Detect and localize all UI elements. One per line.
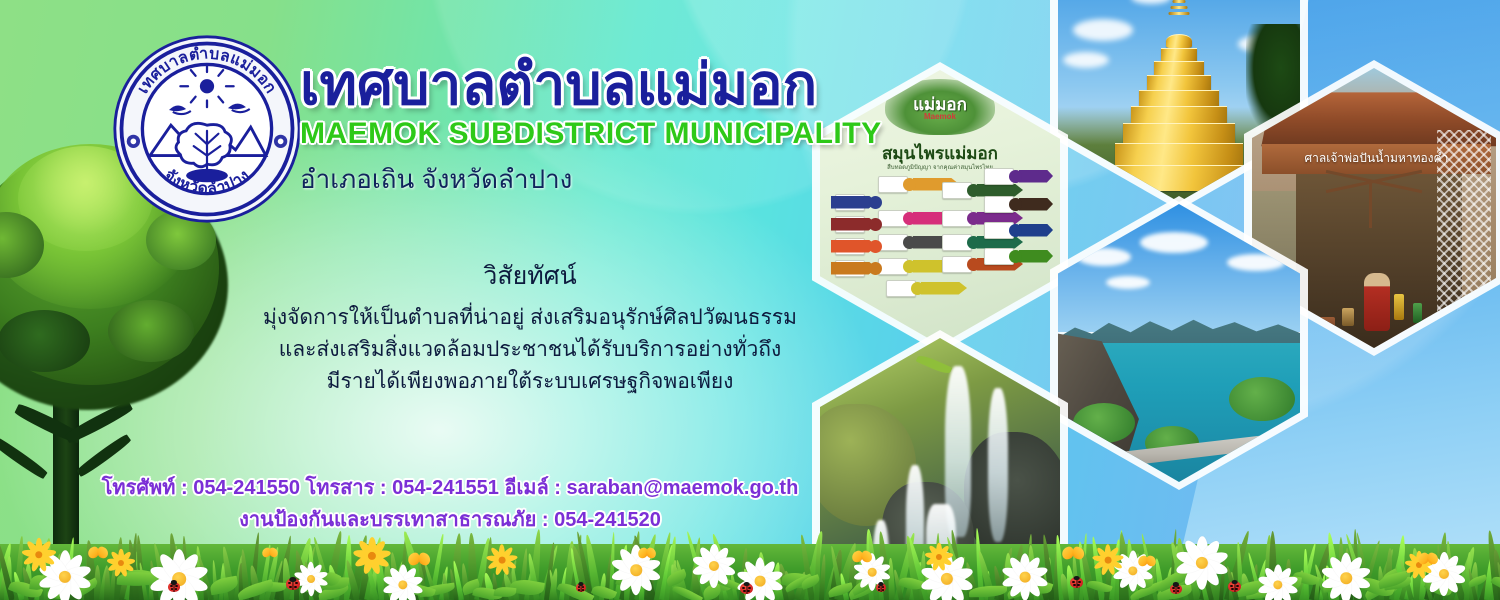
cloud: [1063, 52, 1109, 68]
butterfly: [1138, 556, 1156, 570]
page-title-english: MAEMOK SUBDISTRICT MUNICIPALITY: [300, 117, 960, 151]
ladybug-head: [743, 582, 750, 587]
daisy-flower: [1265, 572, 1291, 598]
ladybug: [576, 583, 586, 592]
ladybug: [286, 578, 300, 590]
cloud: [1140, 232, 1208, 253]
yellow-flower: [112, 554, 130, 572]
daisy-flower: [300, 568, 322, 590]
daisy-flower: [1010, 562, 1040, 592]
ladybug-spot: [743, 590, 746, 592]
yellow-flower: [492, 550, 512, 570]
vegetation: [1073, 403, 1135, 443]
tree-branch: [0, 435, 49, 481]
butterfly-wing: [1070, 546, 1085, 561]
daisy-center: [307, 575, 315, 583]
butterfly: [408, 552, 430, 570]
grass-flower-border: [0, 518, 1500, 600]
vision-heading: วิสัยทัศน์: [230, 256, 830, 296]
ladybug-spot: [742, 587, 745, 589]
ladybug-spot: [1078, 581, 1081, 583]
ladybug-spot: [1172, 587, 1175, 589]
daisy-center: [1020, 572, 1031, 583]
roof-post: [1369, 183, 1372, 228]
butterfly-wing: [1425, 552, 1439, 566]
vision-line: และส่งเสริมสิ่งแวดล้อมประชาชนได้รับบริกา…: [230, 334, 830, 366]
yellow-flower-center: [1105, 557, 1112, 564]
daisy-flower: [1330, 562, 1362, 594]
daisy-center: [868, 568, 877, 577]
shrine-mesh-fence: [1437, 130, 1491, 337]
contact-line-primary: โทรศัพท์ : 054-241550 โทรสาร : 054-24155…: [60, 472, 840, 504]
daisy-flower: [390, 572, 416, 598]
yellow-flower: [360, 544, 384, 568]
daisy-flower: [700, 552, 728, 580]
ladybug-spot: [1073, 584, 1076, 586]
daisy-center: [1340, 572, 1352, 584]
ladybug: [740, 583, 753, 594]
butterfly: [1062, 546, 1084, 564]
pagoda-structure: [1108, 34, 1250, 191]
seal-svg: เทศบาลตำบลแม่มอก จังหวัดลำปาง: [112, 34, 302, 224]
ladybug-spot: [748, 587, 751, 589]
ladybug-spot: [294, 586, 297, 588]
page-title-thai: เทศบาลตำบลแม่มอก: [300, 56, 960, 115]
ladybug-spot: [882, 589, 884, 591]
butterfly: [852, 550, 872, 566]
daisy-center: [755, 576, 766, 587]
butterfly: [1418, 552, 1438, 568]
ladybug-head: [289, 577, 296, 582]
butterfly-wing: [859, 550, 873, 564]
shrine-caption: ศาลเจ้าพ่อปันน้ำมหาทองคำ: [1305, 149, 1449, 168]
butterfly-wing: [645, 547, 657, 559]
ladybug-spot: [582, 589, 584, 591]
butterfly-wing: [95, 546, 109, 560]
yellow-flower-center: [499, 557, 506, 564]
ladybug-head: [1073, 576, 1080, 581]
yellow-flower: [1098, 550, 1118, 570]
daisy-flower: [160, 560, 198, 598]
shrine-table: [1342, 308, 1354, 326]
vision-line: มุ่งจัดการให้เป็นตำบลที่น่าอยู่ ส่งเสริม…: [230, 302, 830, 334]
butterfly-wing: [1145, 555, 1157, 567]
shrine-statue: [1364, 273, 1390, 331]
tree-foliage: [108, 300, 194, 362]
butterfly: [88, 546, 108, 562]
ladybug-spot: [878, 586, 880, 588]
butterfly: [638, 548, 656, 562]
ladybug: [876, 583, 886, 592]
butterfly-wing: [268, 547, 279, 558]
ladybug-head: [1231, 580, 1238, 585]
page-subtitle-thai: อำเภอเถิน จังหวัดลำปาง: [300, 159, 960, 200]
ladybug: [168, 582, 180, 592]
ladybug-spot: [1236, 585, 1239, 587]
yellow-flower: [930, 548, 948, 566]
ladybug-spot: [1072, 581, 1075, 583]
ladybug-spot: [1231, 588, 1234, 590]
daisy-flower: [48, 560, 82, 594]
ladybug: [1170, 584, 1182, 594]
ladybug: [1228, 581, 1241, 592]
banner-titles: เทศบาลตำบลแม่มอก MAEMOK SUBDISTRICT MUNI…: [300, 56, 960, 200]
ladybug-spot: [1230, 585, 1233, 587]
poster-social-icons: [836, 312, 843, 337]
ladybug-spot: [170, 585, 173, 587]
municipality-banner: วัดพ บ้านกุ่ อำเภ ศาลเจ้าพ่อปันน้ำมหาทอง…: [0, 0, 1500, 600]
yellow-flower: [28, 544, 50, 566]
ladybug-spot: [578, 586, 580, 588]
butterfly: [262, 547, 278, 560]
leaf: [834, 344, 869, 364]
daisy-center: [630, 564, 642, 576]
shrine-offering: [1394, 294, 1404, 320]
shrine-offering: [1413, 303, 1422, 323]
tree-foliage: [0, 310, 90, 372]
vegetation: [1229, 377, 1295, 421]
municipality-seal-logo: เทศบาลตำบลแม่มอก จังหวัดลำปาง: [112, 34, 302, 224]
vision-statement: วิสัยทัศน์ มุ่งจัดการให้เป็นตำบลที่น่าอย…: [230, 256, 830, 398]
vision-line: มีรายได้เพียงพอภายใต้ระบบเศรษฐกิจพอเพียง: [230, 366, 830, 398]
poster-qr-code: [1008, 312, 1034, 338]
butterfly-wing: [416, 552, 431, 567]
ladybug: [1070, 577, 1083, 588]
daisy-flower: [1185, 546, 1219, 580]
